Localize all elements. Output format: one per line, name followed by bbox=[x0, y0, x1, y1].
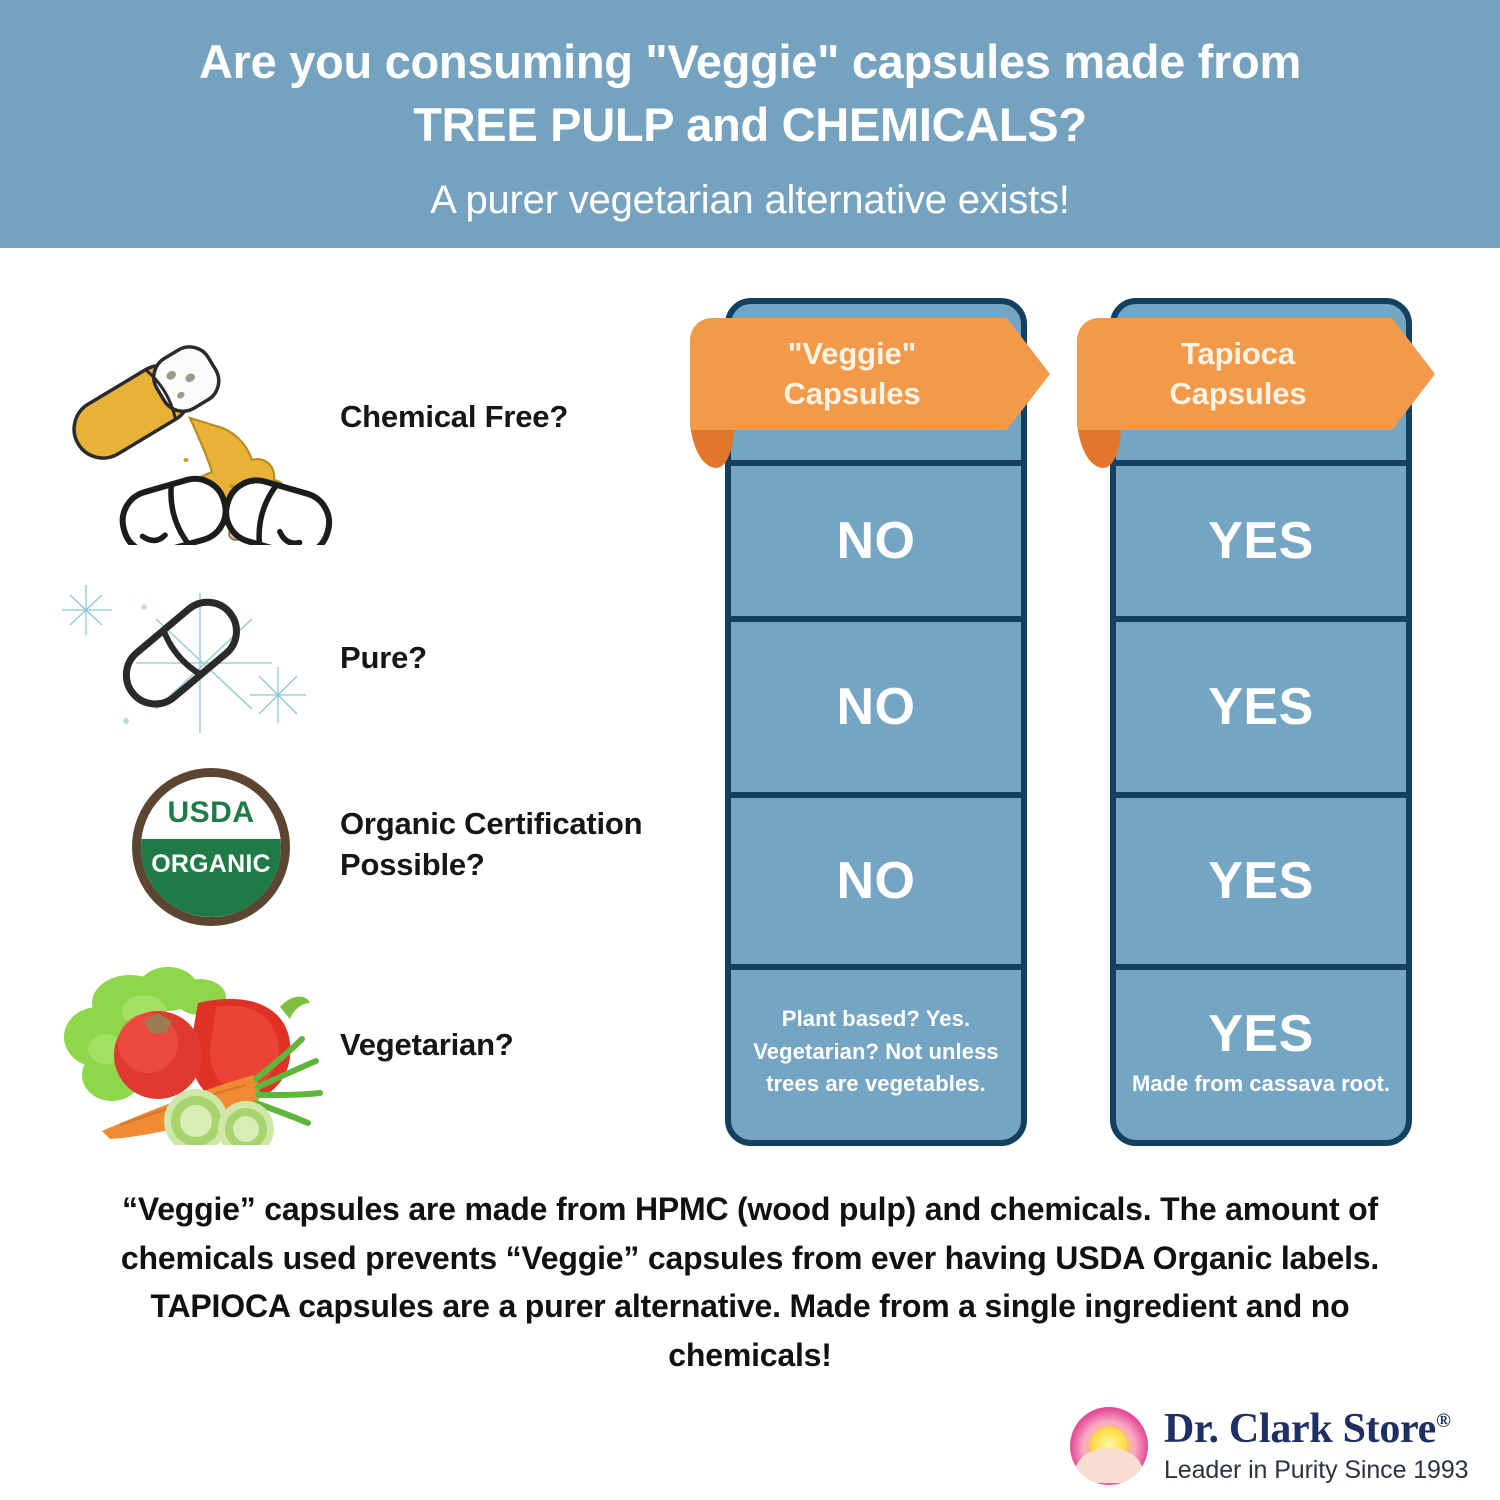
page-title-line1: Are you consuming "Veggie" capsules made… bbox=[199, 35, 1301, 88]
vegetables-icon bbox=[40, 945, 340, 1145]
criteria-row-vegetarian: Vegetarian? bbox=[40, 945, 700, 1145]
cell-veggie-vegetarian: Plant based? Yes. Vegetarian? Not unless… bbox=[731, 964, 1021, 1134]
sparkling-capsule-icon bbox=[40, 563, 340, 753]
column-header-line1: "Veggie" bbox=[788, 336, 917, 371]
brand-logo-text: Dr. Clark Store® Leader in Purity Since … bbox=[1164, 1408, 1468, 1485]
cell-tapioca-chemical-free: YES bbox=[1116, 460, 1406, 616]
criteria-label: Vegetarian? bbox=[340, 1025, 514, 1066]
ribbon-body: "Veggie" Capsules bbox=[690, 318, 1050, 430]
cell-tapioca-vegetarian: YES Made from cassava root. bbox=[1116, 964, 1406, 1134]
usda-seal-top: USDA bbox=[141, 777, 281, 841]
criteria-row-chemical-free: Chemical Free? bbox=[40, 290, 700, 545]
usda-seal-circle: USDA ORGANIC bbox=[132, 768, 290, 926]
page-subtitle: A purer vegetarian alternative exists! bbox=[430, 178, 1069, 223]
page-title: Are you consuming "Veggie" capsules made… bbox=[199, 31, 1301, 157]
criteria-row-organic: USDA ORGANIC Organic Certification Possi… bbox=[40, 750, 700, 940]
verdict-text: NO bbox=[837, 851, 916, 911]
column-header-ribbon-tapioca[interactable]: Tapioca Capsules bbox=[1077, 318, 1435, 430]
verdict-text: NO bbox=[837, 511, 916, 571]
criteria-label: Chemical Free? bbox=[340, 397, 568, 438]
verdict-text: YES bbox=[1208, 511, 1314, 571]
hands-icon bbox=[1075, 1448, 1144, 1484]
dr-clark-store-logo-icon bbox=[1070, 1407, 1148, 1485]
usda-seal-top-text: USDA bbox=[167, 796, 254, 830]
verdict-text: YES bbox=[1208, 1004, 1314, 1064]
criteria-label: Pure? bbox=[340, 638, 427, 679]
usda-organic-seal-icon: USDA ORGANIC bbox=[40, 750, 340, 940]
column-header-label: Tapioca Capsules bbox=[1169, 334, 1342, 413]
column-header-ribbon-veggie[interactable]: "Veggie" Capsules bbox=[690, 318, 1050, 430]
cell-veggie-organic: NO bbox=[731, 792, 1021, 964]
criteria-row-pure: Pure? bbox=[40, 563, 700, 753]
footer-paragraph: “Veggie” capsules are made from HPMC (wo… bbox=[75, 1185, 1425, 1380]
cell-tapioca-organic: YES bbox=[1116, 792, 1406, 964]
cell-veggie-pure: NO bbox=[731, 616, 1021, 792]
header-banner: Are you consuming "Veggie" capsules made… bbox=[0, 0, 1500, 248]
verdict-text: NO bbox=[837, 677, 916, 737]
criteria-list: Chemical Free? Pu bbox=[40, 285, 700, 1155]
brand-logo[interactable]: Dr. Clark Store® Leader in Purity Since … bbox=[1070, 1400, 1470, 1492]
brand-name: Dr. Clark Store® bbox=[1164, 1408, 1468, 1450]
column-header-label: "Veggie" Capsules bbox=[783, 334, 956, 413]
verdict-text: YES bbox=[1208, 851, 1314, 911]
page-title-line2: TREE PULP and CHEMICALS? bbox=[413, 98, 1086, 151]
verdict-text: YES bbox=[1208, 677, 1314, 737]
cell-veggie-chemical-free: NO bbox=[731, 460, 1021, 616]
criteria-label: Organic Certification Possible? bbox=[340, 804, 700, 886]
column-header-line2: Capsules bbox=[783, 376, 920, 411]
cell-tapioca-pure: YES bbox=[1116, 616, 1406, 792]
capsule-pouring-powder-icon bbox=[40, 290, 340, 545]
verdict-note: Plant based? Yes. Vegetarian? Not unless… bbox=[731, 1003, 1021, 1101]
brand-name-text: Dr. Clark Store bbox=[1164, 1406, 1436, 1452]
ribbon-body: Tapioca Capsules bbox=[1077, 318, 1435, 430]
registered-trademark-icon: ® bbox=[1436, 1410, 1451, 1432]
usda-seal-bottom: ORGANIC bbox=[135, 839, 286, 926]
column-header-line2: Capsules bbox=[1169, 376, 1306, 411]
brand-tagline: Leader in Purity Since 1993 bbox=[1164, 1456, 1468, 1485]
column-header-line1: Tapioca bbox=[1181, 336, 1295, 371]
usda-seal-bottom-text: ORGANIC bbox=[151, 850, 270, 879]
verdict-note: Made from cassava root. bbox=[1132, 1068, 1390, 1100]
